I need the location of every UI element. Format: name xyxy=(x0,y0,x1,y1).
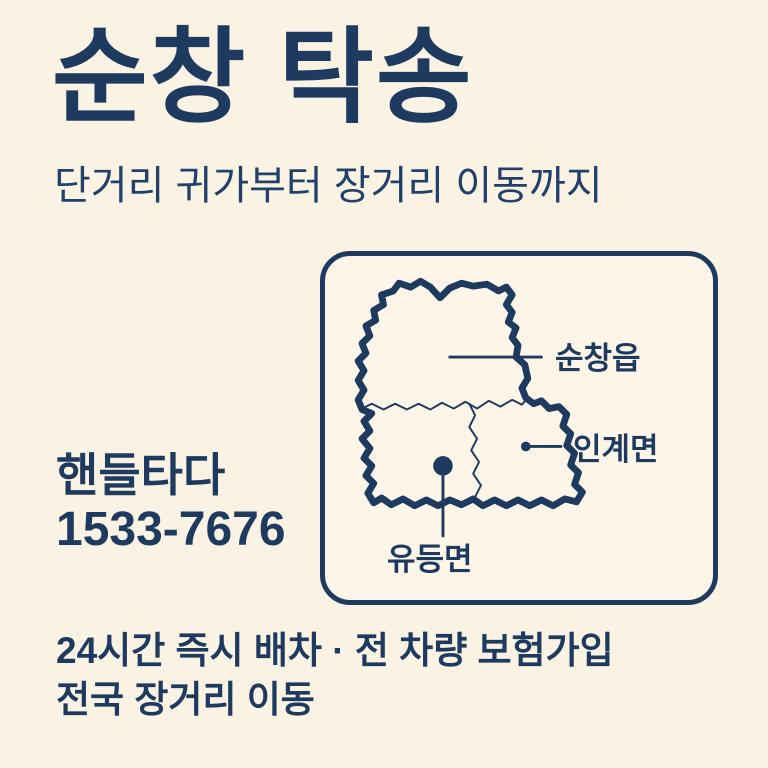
feature-line-dispatch-insurance: 24시간 즉시 배차 · 전 차량 보험가입 xyxy=(56,626,736,675)
map-panel: 순창읍 인계면 유등면 xyxy=(320,251,718,605)
brand-name: 핸들타다 xyxy=(56,448,326,502)
page-subtitle: 단거리 귀가부터 장거리 이동까지 xyxy=(54,164,603,208)
page-title: 순창 탁송 xyxy=(52,26,474,130)
feature-line-nationwide: 전국 장거리 이동 xyxy=(56,675,736,724)
map-dot-yudeung-myeon xyxy=(433,456,452,475)
map-label-ingye-myeon: 인계면 xyxy=(573,434,659,465)
map-label-sunchang-eup: 순창읍 xyxy=(555,343,641,374)
phone-number[interactable]: 1533-7676 xyxy=(56,502,326,559)
map-label-yudeung-myeon: 유등면 xyxy=(387,544,473,575)
sunchang-region-map xyxy=(325,256,713,600)
map-dot-ingye-myeon xyxy=(521,442,531,452)
poster-root: 순창 탁송 단거리 귀가부터 장거리 이동까지 핸들타다 1533-7676 xyxy=(0,0,768,768)
feature-list: 24시간 즉시 배차 · 전 차량 보험가입 전국 장거리 이동 xyxy=(56,626,736,724)
brand-contact-block: 핸들타다 1533-7676 xyxy=(56,448,326,559)
region-area-yudeung-myeon xyxy=(368,404,473,505)
